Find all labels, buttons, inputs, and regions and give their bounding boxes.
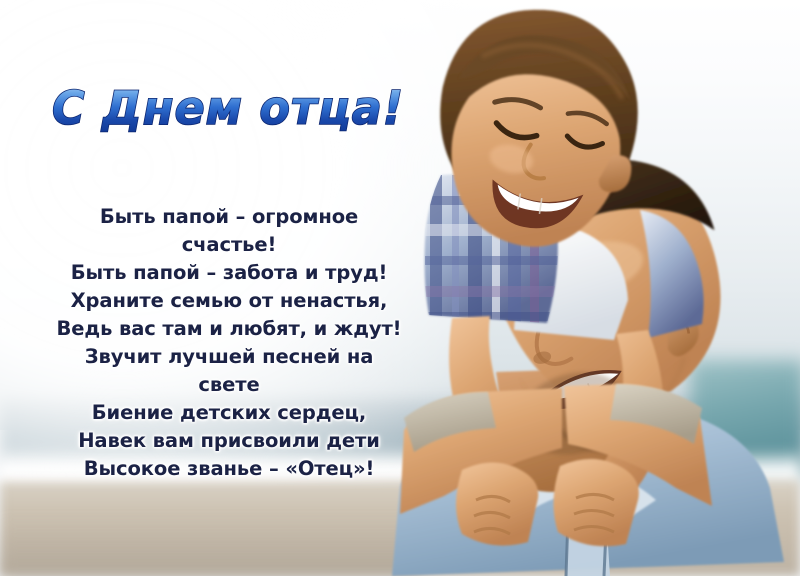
poem-line: Быть папой – забота и труд! xyxy=(34,259,424,287)
poem-line: Храните семью от ненастья, xyxy=(34,287,424,315)
poem-line: свете xyxy=(34,371,424,399)
greeting-title: С Днем отца! xyxy=(52,78,422,140)
poem-line: Быть папой – огромное xyxy=(34,203,424,231)
greeting-card: С Днем отца! Быть папой – огромноесчасть… xyxy=(0,0,800,576)
poem-line: Высокое званье – «Отец»! xyxy=(34,455,424,483)
poem-line: Звучит лучшей песней на xyxy=(34,343,424,371)
poem-line: Ведь вас там и любят, и ждут! xyxy=(34,315,424,343)
title-text: С Днем отца! xyxy=(52,81,404,135)
poem-line: Биение детских сердец, xyxy=(34,399,424,427)
poem-line: счастье! xyxy=(34,231,424,259)
poem-line: Навек вам присвоили дети xyxy=(34,427,424,455)
poem-text-block: Быть папой – огромноесчастье!Быть папой … xyxy=(34,203,424,483)
